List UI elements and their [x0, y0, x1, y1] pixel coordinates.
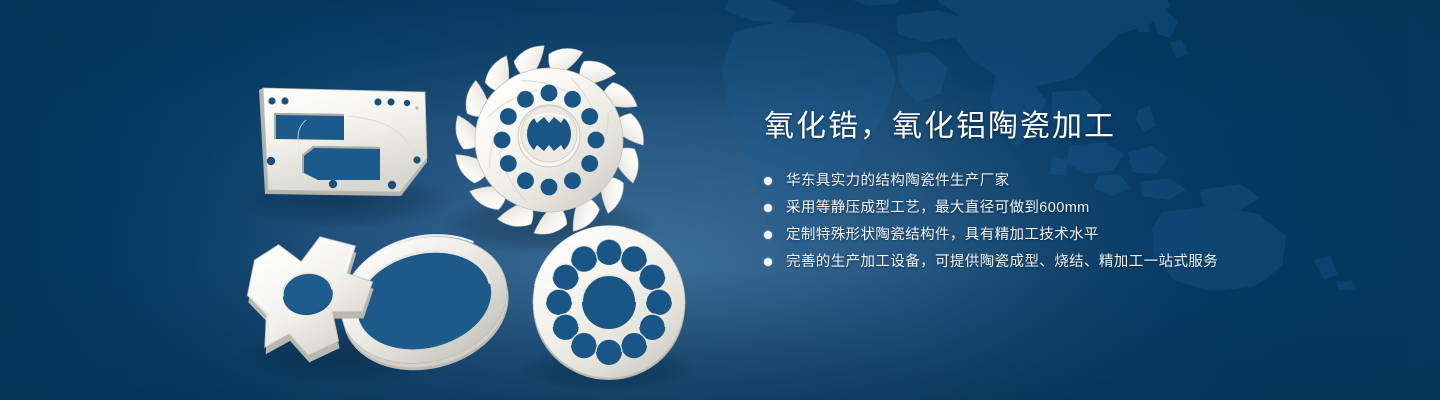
list-item-label: 完善的生产加工设备，可提供陶瓷成型、烧结、精加工一站式服务 — [786, 253, 1218, 271]
list-item: 完善的生产加工设备，可提供陶瓷成型、烧结、精加工一站式服务 — [764, 253, 1384, 271]
page-title: 氧化锆，氧化铝陶瓷加工 — [764, 108, 1384, 146]
list-item: 华东具实力的结构陶瓷件生产厂家 — [764, 172, 1384, 190]
marketing-copy: 氧化锆，氧化铝陶瓷加工 华东具实力的结构陶瓷件生产厂家 采用等静压成型工艺，最大… — [764, 108, 1384, 280]
product-photo-group — [0, 0, 740, 400]
bullet-dot-icon — [764, 204, 772, 212]
feature-list: 华东具实力的结构陶瓷件生产厂家 采用等静压成型工艺，最大直径可做到600mm 定… — [764, 172, 1384, 271]
bullet-dot-icon — [764, 177, 772, 185]
list-item-label: 华东具实力的结构陶瓷件生产厂家 — [786, 172, 1010, 190]
list-item-label: 定制特殊形状陶瓷结构件，具有精加工技术水平 — [786, 226, 1099, 244]
list-item-label: 采用等静压成型工艺，最大直径可做到600mm — [786, 199, 1090, 217]
product-ceramic-perforated-disc — [533, 226, 685, 380]
bullet-dot-icon — [764, 258, 772, 266]
product-ceramic-mounting-plate — [259, 88, 427, 196]
hero-banner: 氧化锆，氧化铝陶瓷加工 华东具实力的结构陶瓷件生产厂家 采用等静压成型工艺，最大… — [0, 0, 1440, 400]
list-item: 采用等静压成型工艺，最大直径可做到600mm — [764, 199, 1384, 217]
bullet-dot-icon — [764, 231, 772, 239]
list-item: 定制特殊形状陶瓷结构件，具有精加工技术水平 — [764, 226, 1384, 244]
